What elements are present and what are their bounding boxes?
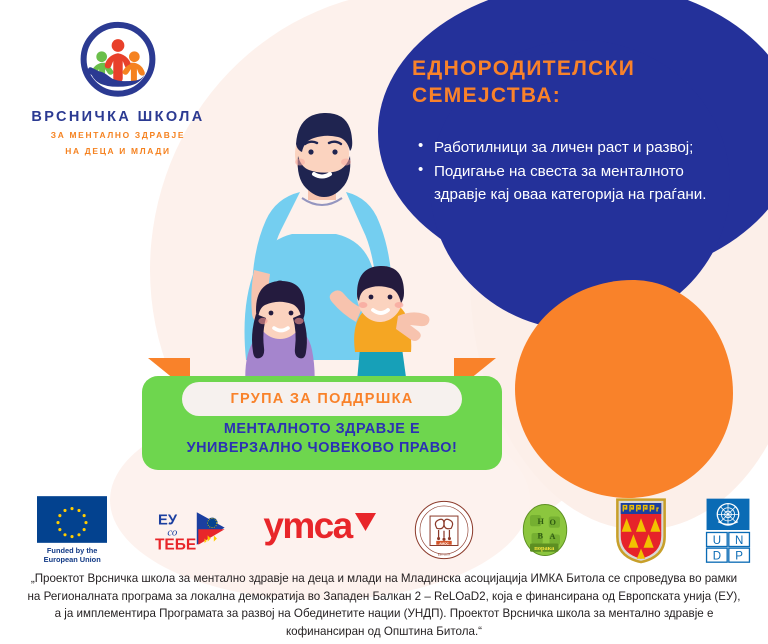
brand-logo-block: ВРСНИЧКА ШКОЛА ЗА МЕНТАЛНО ЗДРАВЈЕ НА ДЕ… <box>18 18 218 158</box>
amos-center-text: АМОС <box>439 541 449 545</box>
poster-canvas: ВРСНИЧКА ШКОЛА ЗА МЕНТАЛНО ЗДРАВЈЕ НА ДЕ… <box>0 0 768 644</box>
undp-letter-d: D <box>712 551 720 563</box>
list-item: Работилници за личен раст и развој; <box>418 136 710 159</box>
eu-caption-line2: European Union <box>44 555 101 564</box>
ymca-logo: ymca <box>248 509 392 551</box>
page-title: ЕДНОРОДИТЕЛСКИ СЕМЕЈСТВА: <box>412 55 712 110</box>
ribbon-message: МЕНТАЛНОТО ЗДРАВЈЕ Е УНИВЕРЗАЛНО ЧОВЕКОВ… <box>142 420 502 459</box>
partner-logos-row: Funded by the European Union ЕУ со ТЕБЕ <box>0 494 768 566</box>
brand-subtitle-line1: ЗА МЕНТАЛНО ЗДРАВЈЕ <box>18 129 218 142</box>
undp-letter-n: N <box>735 535 743 547</box>
ribbon-message-line1: МЕНТАЛНОТО ЗДРАВЈЕ Е <box>142 420 502 439</box>
ribbon-body: ГРУПА ЗА ПОДДРШКА МЕНТАЛНОТО ЗДРАВЈЕ Е У… <box>142 376 502 470</box>
project-disclaimer: „Проектот Врсничка школа за ментално здр… <box>26 570 742 640</box>
support-group-label: ГРУПА ЗА ПОДДРШКА <box>182 382 462 416</box>
list-item: Подигање на свеста за менталното здравје… <box>418 160 710 206</box>
support-group-ribbon: ГРУПА ЗА ПОДДРШКА МЕНТАЛНОТО ЗДРАВЈЕ Е У… <box>142 358 502 470</box>
poraka-label: порака <box>534 545 555 552</box>
activities-list: Работилници за личен раст и развој; Поди… <box>418 136 710 207</box>
svg-text:Н: Н <box>537 517 544 526</box>
three-figures-in-hand-circle-logo <box>75 18 161 104</box>
undp-letter-u: U <box>712 535 720 547</box>
eu-so-tebe-logo: ЕУ со ТЕБЕ <box>144 506 248 554</box>
svg-text:В: В <box>537 531 543 540</box>
ymca-wordmark: ymca <box>263 509 351 542</box>
headline-line2: СЕМЕЈСТВА: <box>412 82 712 109</box>
undp-logo: U N D P <box>687 497 768 563</box>
nova-poraka-logo: Н О В А порака <box>495 500 595 560</box>
ymca-triangle-icon <box>352 509 378 551</box>
svg-text:А: А <box>549 532 555 541</box>
bitola-coat-of-arms-logo <box>595 496 687 564</box>
svg-text:О: О <box>549 518 556 527</box>
amos-seal-logo: АМОС БИТОЛА <box>393 499 495 561</box>
eu-flag-caption: Funded by the European Union <box>44 546 101 565</box>
eu-flag-logo: Funded by the European Union <box>0 496 144 565</box>
headline-line1: ЕДНОРОДИТЕЛСКИ <box>412 55 712 82</box>
ribbon-message-line2: УНИВЕРЗАЛНО ЧОВЕКОВО ПРАВО! <box>142 439 502 458</box>
brand-name: ВРСНИЧКА ШКОЛА <box>18 110 218 126</box>
eu-caption-line1: Funded by the <box>44 546 101 555</box>
amos-bottom-text: БИТОЛА <box>437 553 450 557</box>
undp-letter-p: P <box>735 551 743 563</box>
orange-blob-shape <box>515 280 733 498</box>
svg-text:ТЕБЕ: ТЕБЕ <box>155 536 196 553</box>
brand-subtitle-line2: НА ДЕЦА И МЛАДИ <box>18 145 218 158</box>
